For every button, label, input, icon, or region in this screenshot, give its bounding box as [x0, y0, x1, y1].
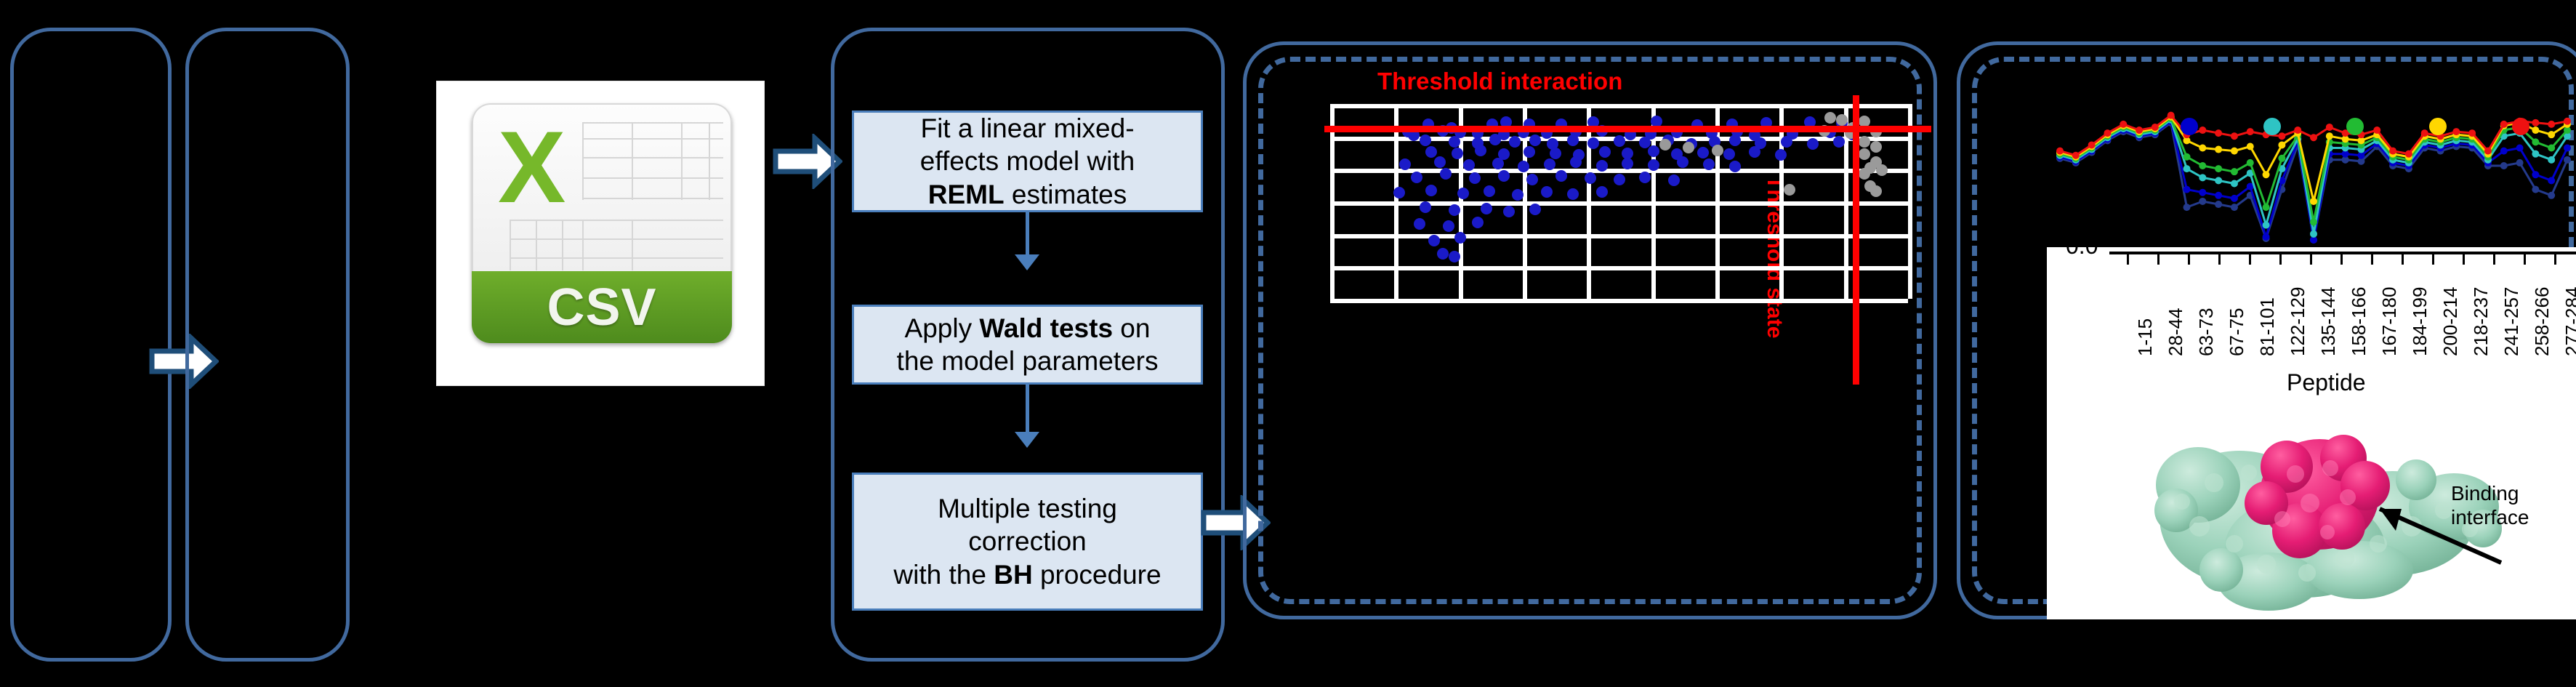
volcano-point-significant [1614, 174, 1625, 185]
volcano-point-significant [1833, 136, 1845, 148]
peptide-marker [2548, 156, 2555, 164]
peptide-axis-tick-label: 122-129 [2287, 287, 2309, 356]
step-box-bh: Multiple testingcorrectionwith the BH pr… [852, 473, 1203, 611]
volcano-point-significant [1749, 146, 1760, 158]
peptide-axis-tick [2463, 254, 2465, 265]
volcano-point-significant [1428, 235, 1440, 246]
panel-csv [185, 28, 350, 662]
volcano-gridline-h [1330, 266, 1908, 270]
volcano-point-non-significant [1712, 145, 1723, 156]
peptide-marker [2199, 189, 2206, 196]
peptide-axis-tick [2371, 254, 2373, 265]
peptide-marker [2183, 186, 2191, 193]
peptide-axis-tick [2249, 254, 2251, 265]
peptide-axis-tick-label: 1-15 [2134, 318, 2157, 356]
step-box-model: Fit a linear mixed-effects model with RE… [852, 111, 1203, 212]
volcano-point-significant [1469, 172, 1481, 184]
volcano-point-significant [1599, 146, 1611, 158]
volcano-point-significant [1677, 156, 1689, 168]
peptide-marker [2263, 222, 2270, 229]
volcano-point-significant [1555, 170, 1567, 182]
volcano-point-significant [1648, 145, 1659, 157]
peptide-marker [2564, 156, 2571, 164]
panel-input [10, 28, 172, 662]
peptide-structure-card: 0.0 1-1528-4463-7367-7581-101122-129135-… [2047, 247, 2576, 619]
volcano-point-significant [1567, 188, 1579, 200]
volcano-point-non-significant [1859, 136, 1870, 148]
volcano-point-significant [1723, 148, 1735, 160]
step-box-wald-text: Apply Wald tests onthe model parameters [861, 312, 1194, 377]
peptide-marker [2056, 148, 2064, 155]
volcano-point-significant [1518, 161, 1529, 172]
peptide-marker [2247, 159, 2254, 166]
volcano-gridline-v [1908, 104, 1912, 299]
volcano-point-significant [1703, 158, 1715, 170]
volcano-point-significant [1425, 185, 1437, 196]
peptide-marker [2231, 148, 2238, 155]
volcano-point-significant [1463, 159, 1475, 171]
peptide-marker [2183, 204, 2191, 211]
volcano-point-significant [1639, 172, 1651, 183]
peptide-marker [2500, 162, 2508, 169]
peptide-axis-tick [2310, 254, 2312, 265]
peptide-marker [2516, 159, 2524, 166]
peptide-marker [2532, 171, 2539, 178]
volcano-point-significant [1420, 134, 1431, 146]
volcano-point-significant [1498, 170, 1510, 182]
volcano-plot: Threshold interaction Threshold state [1243, 41, 1937, 619]
volcano-point-non-significant [1683, 142, 1694, 153]
binding-interface-label-line2: interface [2451, 505, 2529, 529]
volcano-point-significant [1697, 147, 1709, 158]
peptide-axis-tick [2402, 254, 2404, 265]
peptide-marker [2199, 174, 2206, 181]
peptide-axis-tick [2524, 254, 2526, 265]
peptide-axis-tick [2340, 254, 2343, 265]
peptide-axis-tick-label: 167-180 [2378, 287, 2401, 356]
volcano-point-significant [1425, 146, 1437, 158]
connector-wald-to-bh-arrowhead [1015, 432, 1039, 448]
volcano-point-non-significant [1859, 148, 1870, 160]
volcano-point-non-significant [1870, 141, 1882, 153]
volcano-point-significant [1443, 220, 1454, 232]
peptide-marker [2072, 152, 2080, 159]
volcano-point-significant [1550, 148, 1561, 159]
peptide-marker [2310, 219, 2317, 226]
peptide-axis-tick-label: 81-101 [2256, 297, 2279, 356]
volcano-point-non-significant [1659, 139, 1671, 150]
peptide-legend-dot [2429, 118, 2447, 135]
volcano-gridline-h [1330, 299, 1908, 303]
volcano-point-significant [1529, 134, 1541, 146]
peptide-axis-tick [2127, 254, 2129, 265]
peptide-axis-tick-label: 184-199 [2409, 287, 2431, 356]
csv-format-band: CSV [472, 271, 732, 343]
peptide-legend-dot [2512, 118, 2529, 135]
volcano-point-significant [1729, 134, 1741, 146]
peptide-legend-dot [2346, 118, 2364, 135]
volcano-point-significant [1449, 204, 1460, 216]
volcano-point-significant [1414, 218, 1425, 230]
volcano-point-non-significant [1859, 168, 1870, 180]
peptide-marker [2500, 148, 2508, 155]
volcano-point-significant [1614, 135, 1625, 147]
figure-canvas: X CSV Fit a linear mixed-effects model w… [0, 0, 2576, 687]
peptide-marker [2231, 195, 2238, 202]
peptide-axis-tick-label: 158-166 [2348, 287, 2370, 356]
peptide-marker [2310, 198, 2317, 205]
peptide-axis-tick-label: 258-266 [2531, 287, 2553, 356]
peptide-marker [2183, 165, 2191, 172]
volcano-point-significant [1529, 204, 1541, 215]
volcano-point-significant [1544, 158, 1555, 170]
volcano-point-significant [1585, 172, 1596, 184]
peptide-marker [2548, 192, 2555, 199]
peptide-uptake-chart [1995, 81, 2576, 247]
peptide-axis-tick-label: 200-214 [2439, 287, 2462, 356]
peptide-chart-legend [1995, 118, 2576, 147]
volcano-point-non-significant [1876, 164, 1888, 176]
volcano-point-significant [1484, 185, 1495, 197]
peptide-axis-tick [2218, 254, 2221, 265]
volcano-point-significant [1475, 145, 1486, 156]
peptide-marker [2278, 155, 2285, 162]
csv-file-icon: X CSV [472, 103, 732, 343]
volcano-point-significant [1775, 149, 1787, 161]
volcano-point-significant [1454, 232, 1466, 244]
step-box-bh-text: Multiple testingcorrectionwith the BH pr… [861, 492, 1194, 590]
volcano-point-significant [1729, 161, 1741, 172]
excel-x-letter: X [498, 116, 565, 218]
volcano-point-significant [1622, 158, 1633, 169]
volcano-point-significant [1524, 146, 1535, 158]
volcano-gridline-h [1330, 201, 1908, 206]
peptide-marker [2215, 177, 2222, 184]
peptide-marker [2263, 204, 2270, 211]
peptide-marker [2405, 150, 2412, 158]
volcano-point-non-significant [1784, 184, 1795, 196]
volcano-gridline-h [1330, 234, 1908, 238]
peptide-marker [2215, 146, 2222, 153]
peptide-marker [2215, 201, 2222, 208]
peptide-axis-tick-label: 241-257 [2500, 287, 2523, 356]
connector-wald-to-bh [1026, 385, 1029, 434]
volcano-point-significant [1587, 137, 1599, 149]
binding-interface-label-line1: Binding [2451, 481, 2529, 505]
volcano-point-significant [1420, 201, 1431, 213]
volcano-point-significant [1393, 187, 1405, 198]
peptide-marker [2532, 186, 2539, 193]
peptide-uptake-svg [1995, 81, 2576, 247]
volcano-point-significant [1596, 186, 1608, 198]
step-box-wald: Apply Wald tests onthe model parameters [852, 305, 1203, 385]
volcano-point-significant [1596, 160, 1608, 172]
volcano-point-non-significant [1836, 114, 1848, 126]
volcano-point-significant [1411, 172, 1422, 183]
volcano-plot-area [1330, 104, 1908, 299]
csv-format-label: CSV [547, 278, 656, 337]
peptide-legend-dot [2263, 118, 2281, 135]
volcano-point-significant [1472, 217, 1484, 228]
peptide-axis-tick [2157, 254, 2160, 265]
peptide-marker [2263, 233, 2270, 241]
peptide-axis-tick-label: 67-75 [2226, 308, 2248, 357]
peptide-x-axis-title: Peptide [2287, 369, 2366, 396]
connector-model-to-wald-arrowhead [1015, 254, 1039, 270]
peptide-marker [2548, 177, 2555, 184]
volcano-point-significant [1648, 159, 1659, 171]
peptide-marker [2199, 198, 2206, 205]
peptide-marker [2389, 148, 2396, 155]
peptide-axis-tick-label: 277-284 [2561, 287, 2576, 356]
peptide-axis-tick [2432, 254, 2434, 265]
volcano-point-significant [1481, 203, 1492, 214]
volcano-point-significant [1567, 134, 1579, 146]
peptide-axis-tick-label: 63-73 [2195, 308, 2218, 357]
volcano-point-significant [1437, 248, 1449, 260]
volcano-point-significant [1440, 168, 1452, 180]
volcano-threshold-interaction-line [1324, 126, 1931, 132]
peptide-marker [2215, 192, 2222, 199]
volcano-point-significant [1570, 156, 1582, 168]
volcano-point-significant [1781, 136, 1792, 148]
peptide-marker [2231, 180, 2238, 187]
peptide-marker [2231, 204, 2238, 211]
peptide-marker [2310, 230, 2317, 238]
peptide-legend-dot [2181, 118, 2198, 135]
volcano-point-significant [1434, 156, 1446, 168]
volcano-point-non-significant [1870, 185, 1882, 197]
peptide-panel-content: 0.0 1-1528-4463-7367-7581-101122-129135-… [1957, 41, 2576, 619]
peptide-axis-tick-label: 218-237 [2470, 287, 2492, 356]
peptide-axis-tick [2188, 254, 2190, 265]
volcano-point-significant [1509, 136, 1521, 148]
step-box-model-text: Fit a linear mixed-effects model with RE… [861, 112, 1194, 210]
volcano-point-non-significant [1824, 112, 1836, 124]
peptide-axis-tick-label: 135-144 [2317, 287, 2340, 356]
volcano-point-significant [1668, 174, 1680, 186]
volcano-point-significant [1452, 148, 1463, 159]
peptide-axis-tick-label: 28-44 [2165, 308, 2187, 357]
volcano-point-significant [1541, 186, 1553, 198]
peptide-marker [2215, 165, 2222, 172]
peptide-marker [2484, 148, 2492, 155]
volcano-point-significant [1492, 158, 1504, 169]
peptide-marker [2263, 171, 2270, 178]
volcano-point-significant [1449, 136, 1460, 148]
peptide-marker [2532, 150, 2539, 158]
volcano-threshold-state-line [1853, 95, 1859, 385]
connector-model-to-wald [1026, 212, 1029, 257]
peptide-axis-tick [2279, 254, 2282, 265]
volcano-point-significant [1526, 174, 1538, 185]
volcano-point-significant [1489, 134, 1501, 145]
volcano-gridline-h [1330, 104, 1908, 108]
csv-file-card: X CSV [437, 81, 764, 385]
peptide-axis-tick [2554, 254, 2556, 265]
volcano-title: Threshold interaction [1377, 68, 1622, 95]
peptide-axis-tick [2493, 254, 2495, 265]
binding-interface-label: Binding interface [2451, 481, 2529, 529]
volcano-point-significant [1512, 189, 1524, 201]
volcano-point-significant [1807, 138, 1819, 150]
peptide-marker [2183, 153, 2191, 161]
peptide-marker [2231, 168, 2238, 175]
peptide-marker [2199, 162, 2206, 169]
volcano-point-significant [1457, 188, 1469, 199]
volcano-point-significant [1503, 206, 1515, 217]
